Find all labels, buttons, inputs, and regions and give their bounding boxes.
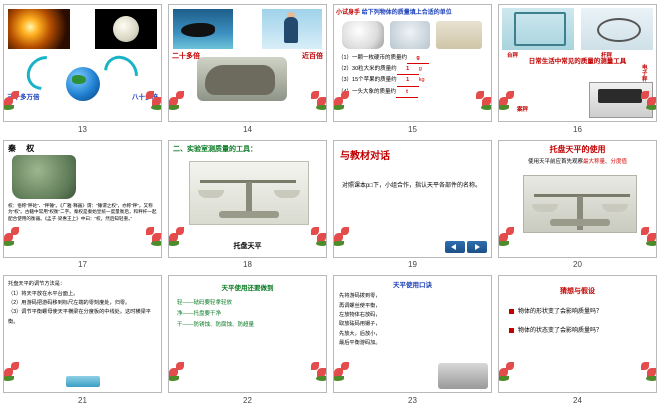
list-item: 最后平衡游码加。	[339, 339, 486, 348]
slide22-title: 天平使用还要做到	[169, 276, 326, 292]
list-item: 先将游码拨到零，	[339, 292, 486, 301]
list-item: （2）30粒大米的质量约1g	[338, 64, 487, 75]
caption-steelyard: 杆秤	[601, 51, 612, 59]
caption-platform-scale: 台秤	[507, 51, 518, 59]
slide17-body: 权：俗称“秤砣”、“秤锤”。《广雅·释器》谓：“锤谓之权”，亦称“秤”。又称为“…	[8, 203, 157, 224]
floral-decoration-icon	[168, 358, 193, 384]
slide-19[interactable]: 与教材对话 对照课本p□下，小组合作，指认天平各部件的名称。	[333, 140, 492, 258]
caption-balance: 托盘天平	[169, 241, 326, 251]
curved-arrow-right-icon	[97, 49, 145, 97]
floral-decoration-icon	[632, 358, 657, 384]
list-item: （1）一颗一枚硬币的质量约g	[338, 53, 487, 64]
slide18-title: 二、实验室测质量的工具：	[169, 141, 326, 154]
label-whale-ratio: 二十多倍	[172, 51, 200, 61]
floral-decoration-icon	[302, 358, 327, 384]
earth-globe-icon	[66, 67, 100, 101]
sun-photo	[8, 9, 70, 49]
list-item: 净——托盘要干净	[177, 309, 318, 320]
slide-number: 13	[0, 125, 165, 134]
slide21-title: 托盘天平的调节方法是：	[8, 280, 157, 289]
label-moon-ratio: 八十多倍	[132, 91, 158, 101]
floral-decoration-icon	[168, 87, 193, 113]
list-item: 干——防锈蚀、防腐蚀、防超量	[177, 320, 318, 331]
slide-18[interactable]: 二、实验室测质量的工具： 托盘天平	[168, 140, 327, 258]
slide-cell-19[interactable]: 与教材对话 对照课本p□下，小组合作，指认天平各部件的名称。 19	[330, 136, 495, 272]
slide19-title: 与教材对话	[334, 141, 491, 162]
list-item: （3）15个苹果的质量约1kg	[338, 75, 487, 86]
slide16-title: 日常生活中常见的质量的测量工具	[499, 55, 656, 65]
slide15-title-blue: 给下列物体的质量填上合适的单位	[362, 10, 452, 16]
list-item: （1）将天平放在水平台面上。	[8, 290, 157, 299]
list-item: 物体的形状变了会影响质量吗？	[509, 306, 656, 315]
curved-arrow-left-icon	[20, 49, 68, 97]
list-item: 轻——砝码要轻拿轻放	[177, 298, 318, 309]
slide-cell-18[interactable]: 二、实验室测质量的工具： 托盘天平 18	[165, 136, 330, 272]
slide-cell-23[interactable]: 天平使用口诀 先将游码拨到零， 再调螺丝使平衡， 左放物体右放码， 取放砝码用镊…	[330, 271, 495, 407]
slide15-title-red: 小试身手	[336, 10, 360, 16]
slide-16[interactable]: 台秤 杆秤 电子秤 案秤 日常生活中常见的质量的测量工具	[498, 4, 657, 122]
slide-number: 19	[330, 260, 495, 269]
slide-15[interactable]: 小试身手 给下列物体的质量填上合适的单位 （1）一颗一枚硬币的质量约g （2）3…	[333, 4, 492, 122]
next-slide-button[interactable]	[445, 241, 465, 253]
list-item: 物体的状态变了会影响质量吗？	[509, 325, 656, 334]
balance-and-weights-photo	[438, 363, 488, 389]
slide-cell-16[interactable]: 台秤 杆秤 电子秤 案秤 日常生活中常见的质量的测量工具 16	[495, 0, 660, 136]
slide20-title: 托盘天平的使用	[499, 141, 656, 155]
slide22-body: 轻——砝码要轻拿轻放 净——托盘要干净 干——防锈蚀、防腐蚀、防超量	[169, 292, 326, 337]
person-photo	[262, 9, 322, 49]
electronic-scale-photo	[589, 82, 653, 118]
slide-21[interactable]: 托盘天平的调节方法是： （1）将天平放在水平台面上。 （2）用游码把游码移到标尺…	[3, 275, 162, 393]
slide-number: 21	[0, 396, 165, 405]
floral-decoration-icon	[333, 358, 358, 384]
slide-number: 18	[165, 260, 330, 269]
previous-slide-button[interactable]	[467, 241, 487, 253]
qin-quan-photo	[12, 155, 76, 199]
floral-decoration-icon	[3, 358, 28, 384]
floral-decoration-icon	[498, 358, 523, 384]
slide-23[interactable]: 天平使用口诀 先将游码拨到零， 再调螺丝使平衡， 左放物体右放码， 取放砝码用镊…	[333, 275, 492, 393]
square-bullet-icon	[509, 328, 514, 333]
floral-decoration-icon	[498, 223, 523, 249]
list-item: （4）一头大象的质量约t	[338, 87, 487, 98]
slide-cell-20[interactable]: 托盘天平的使用 使用天平前应首先观察最大称量、分度值 20	[495, 136, 660, 272]
slide23-title: 天平使用口诀	[334, 276, 491, 289]
balance-photo	[189, 161, 309, 225]
slide-14[interactable]: 二十多倍 近百倍	[168, 4, 327, 122]
fill-blank-list: （1）一颗一枚硬币的质量约g （2）30粒大米的质量约1g （3）15个苹果的质…	[338, 53, 487, 98]
rock-photo	[342, 21, 384, 49]
slide19-body: 对照课本p□下，小组合作，指认天平各部件的名称。	[342, 181, 483, 192]
slide23-body: 先将游码拨到零， 再调螺丝使平衡， 左放物体右放码， 取放砝码用镊子， 先放大，…	[334, 289, 491, 351]
slide-cell-15[interactable]: 小试身手 给下列物体的质量填上合适的单位 （1）一颗一枚硬币的质量约g （2）3…	[330, 0, 495, 136]
slide21-body: 托盘天平的调节方法是： （1）将天平放在水平台面上。 （2）用游码把游码移到标尺…	[4, 276, 161, 331]
slide-22[interactable]: 天平使用还要做到 轻——砝码要轻拿轻放 净——托盘要干净 干——防锈蚀、防腐蚀、…	[168, 275, 327, 393]
caption-electronic-scale: 电子秤	[642, 65, 652, 83]
slide-cell-21[interactable]: 托盘天平的调节方法是： （1）将天平放在水平台面上。 （2）用游码把游码移到标尺…	[0, 271, 165, 407]
slide-20[interactable]: 托盘天平的使用 使用天平前应首先观察最大称量、分度值	[498, 140, 657, 258]
slide17-title: 秦 权	[4, 141, 161, 154]
slide-number: 15	[330, 125, 495, 134]
slide-17[interactable]: 秦 权 权：俗称“秤砣”、“秤锤”。《广雅·释器》谓：“锤谓之权”，亦称“秤”。…	[3, 140, 162, 258]
floral-decoration-icon	[333, 223, 358, 249]
slide-number: 14	[165, 125, 330, 134]
list-item: 先放大，后放小，	[339, 330, 486, 339]
rice-bag-photo	[436, 21, 482, 49]
caption-counter-scale: 案秤	[517, 105, 528, 113]
slide-number: 16	[495, 125, 660, 134]
moon-photo	[95, 9, 157, 49]
whale-photo	[173, 9, 233, 49]
slide-number: 17	[0, 260, 165, 269]
slide-24[interactable]: 猜想与假设 物体的形状变了会影响质量吗？ 物体的状态变了会影响质量吗？	[498, 275, 657, 393]
steelyard-photo	[581, 8, 653, 50]
play-button[interactable]	[66, 376, 100, 387]
slide-13[interactable]: 三十多万倍 八十多倍	[3, 4, 162, 122]
list-item: 再调螺丝使平衡，	[339, 302, 486, 311]
balance-photo	[523, 175, 637, 233]
slide-thumbnail-grid: 三十多万倍 八十多倍 13 二十多倍 近百倍	[0, 0, 660, 407]
slide-number: 23	[330, 396, 495, 405]
platform-scale-photo	[502, 8, 574, 50]
salt-crystal-photo	[390, 21, 430, 49]
slide-cell-13[interactable]: 三十多万倍 八十多倍 13	[0, 0, 165, 136]
list-item: 左放物体右放码，	[339, 311, 486, 320]
elephant-photo	[197, 57, 287, 101]
slide-cell-22[interactable]: 天平使用还要做到 轻——砝码要轻拿轻放 净——托盘要干净 干——防锈蚀、防腐蚀、…	[165, 271, 330, 407]
floral-decoration-icon	[3, 223, 28, 249]
slide-cell-17[interactable]: 秦 权 权：俗称“秤砣”、“秤锤”。《广雅·释器》谓：“锤谓之权”，亦称“秤”。…	[0, 136, 165, 272]
slide-number: 20	[495, 260, 660, 269]
square-bullet-icon	[509, 309, 514, 314]
slide-number: 24	[495, 396, 660, 405]
label-elephant-ratio: 近百倍	[302, 51, 323, 61]
slide-cell-24[interactable]: 猜想与假设 物体的形状变了会影响质量吗？ 物体的状态变了会影响质量吗？ 24	[495, 271, 660, 407]
list-item: （3）调节平衡螺母使天平横梁在分度板的中线处。这时横梁平衡。	[8, 308, 157, 327]
slide-cell-14[interactable]: 二十多倍 近百倍 14	[165, 0, 330, 136]
floral-decoration-icon	[137, 223, 162, 249]
list-item: 取放砝码用镊子，	[339, 320, 486, 329]
list-item: （2）用游码把游码移到标尺左端的零刻度处，归零。	[8, 299, 157, 308]
label-sun-ratio: 三十多万倍	[7, 91, 40, 101]
slide24-title: 猜想与假设	[499, 276, 656, 296]
slide-number: 22	[165, 396, 330, 405]
floral-decoration-icon	[302, 87, 327, 113]
slide20-subtitle: 使用天平前应首先观察最大称量、分度值	[499, 157, 656, 165]
